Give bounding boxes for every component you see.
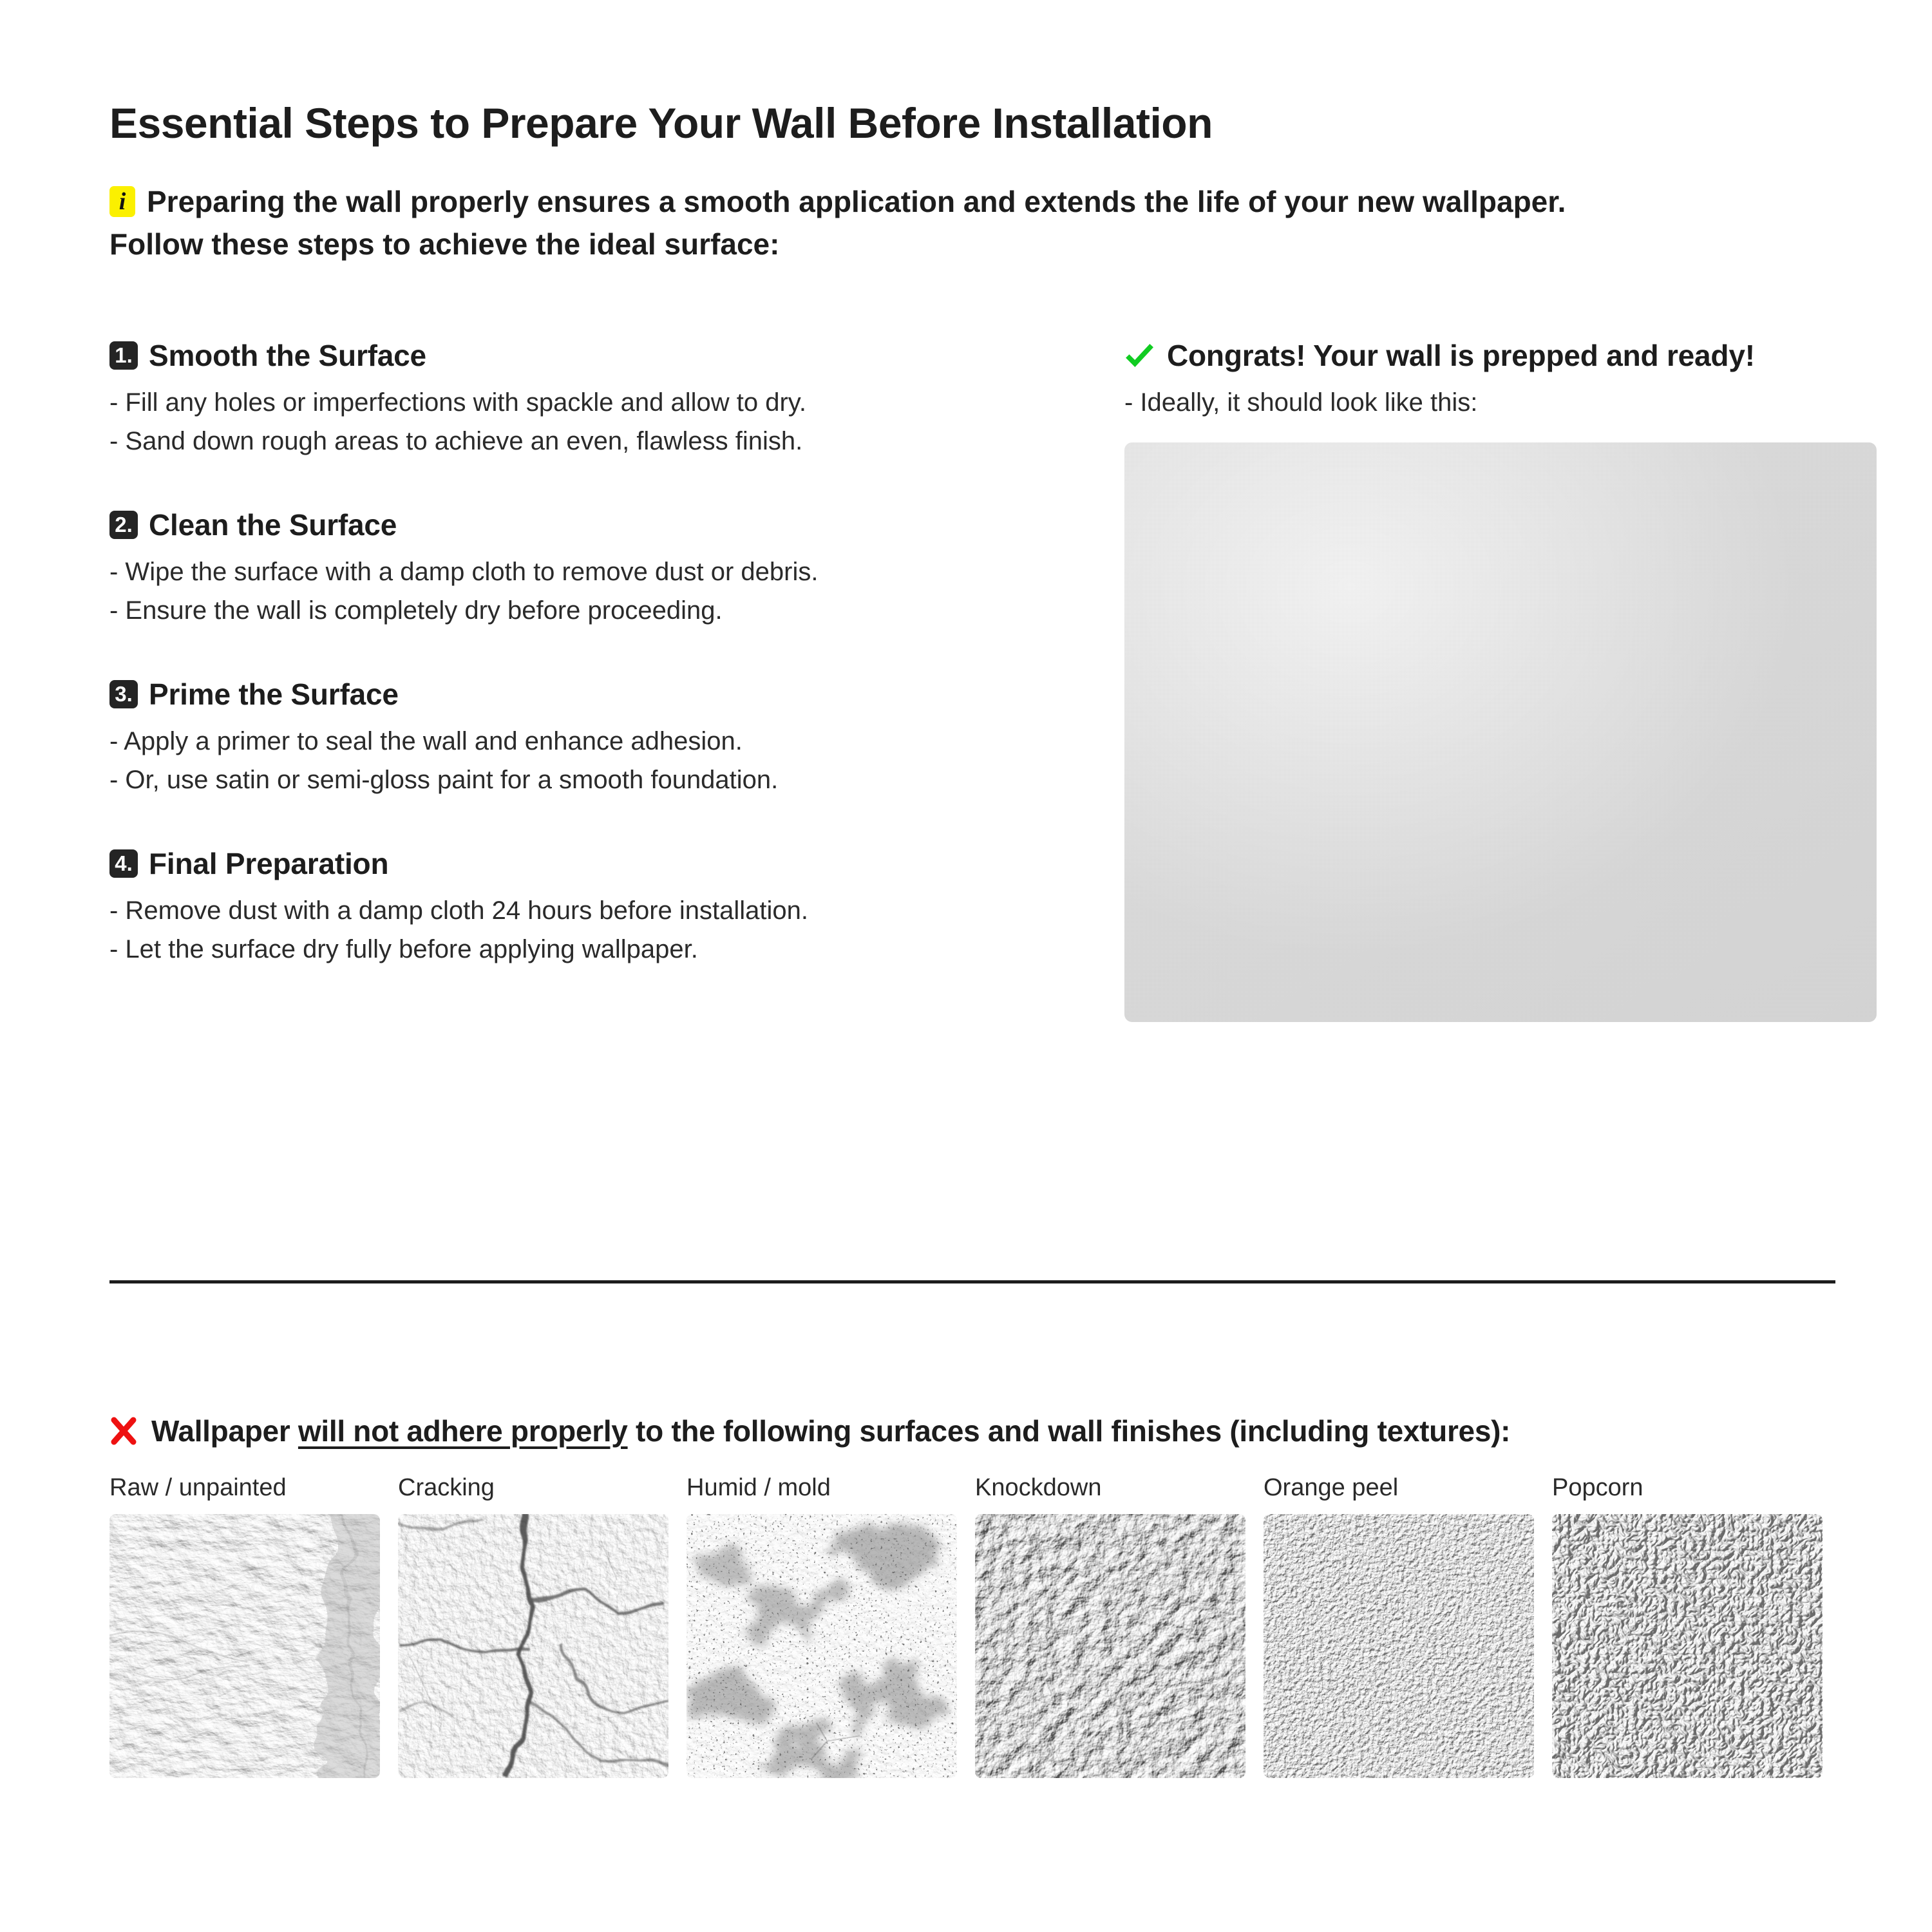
step-bullet: - Apply a primer to seal the wall and en… xyxy=(109,722,1069,761)
section-divider xyxy=(109,1280,1835,1283)
body-columns: 1. Smooth the Surface - Fill any holes o… xyxy=(109,338,1823,1022)
raw-unpainted-texture xyxy=(109,1514,380,1778)
popcorn-texture xyxy=(1552,1514,1823,1778)
step-bullet: - Sand down rough areas to achieve an ev… xyxy=(109,422,1069,460)
step-number-badge: 3. xyxy=(109,680,138,708)
warning-text-after: to the following surfaces and wall finis… xyxy=(628,1414,1511,1448)
surface-label: Cracking xyxy=(398,1474,668,1502)
surface-label: Humid / mold xyxy=(687,1474,957,1502)
step-number-badge: 4. xyxy=(109,849,138,878)
step-item: 1. Smooth the Surface - Fill any holes o… xyxy=(109,338,1069,460)
step-header: 2. Clean the Surface xyxy=(109,507,1069,542)
step-title: Clean the Surface xyxy=(149,507,397,542)
step-bullet: - Remove dust with a damp cloth 24 hours… xyxy=(109,891,1069,930)
warning-header: Wallpaper will not adhere properly to th… xyxy=(109,1414,1835,1448)
surface-label: Popcorn xyxy=(1552,1474,1823,1502)
cracking-texture xyxy=(398,1514,668,1778)
surface-tile: Orange peel xyxy=(1264,1474,1534,1778)
unsuitable-surfaces-section: Wallpaper will not adhere properly to th… xyxy=(109,1414,1835,1778)
steps-column: 1. Smooth the Surface - Fill any holes o… xyxy=(109,338,1069,1022)
intro-line-2: Follow these steps to achieve the ideal … xyxy=(109,227,779,261)
step-number-badge: 1. xyxy=(109,341,138,370)
surface-tile: Raw / unpainted xyxy=(109,1474,380,1778)
green-check-icon xyxy=(1124,341,1154,370)
intro-paragraph: iPreparing the wall properly ensures a s… xyxy=(109,180,1823,266)
surface-tile: Knockdown xyxy=(975,1474,1245,1778)
red-x-icon xyxy=(109,1417,138,1445)
surface-label: Orange peel xyxy=(1264,1474,1534,1502)
step-header: 3. Prime the Surface xyxy=(109,677,1069,712)
step-number-badge: 2. xyxy=(109,511,138,539)
surface-label: Raw / unpainted xyxy=(109,1474,380,1502)
surface-tiles: Raw / unpainted xyxy=(109,1474,1835,1778)
step-title: Smooth the Surface xyxy=(149,338,426,373)
step-bullet: - Ensure the wall is completely dry befo… xyxy=(109,591,1069,630)
info-icon: i xyxy=(109,186,135,217)
step-bullet: - Or, use satin or semi-gloss paint for … xyxy=(109,761,1069,799)
congrats-header: Congrats! Your wall is prepped and ready… xyxy=(1124,338,1878,373)
page-title: Essential Steps to Prepare Your Wall Bef… xyxy=(109,0,1823,147)
step-item: 2. Clean the Surface - Wipe the surface … xyxy=(109,507,1069,630)
step-bullet: - Let the surface dry fully before apply… xyxy=(109,930,1069,969)
step-title: Prime the Surface xyxy=(149,677,399,712)
congrats-title: Congrats! Your wall is prepped and ready… xyxy=(1167,338,1755,373)
congrats-column: Congrats! Your wall is prepped and ready… xyxy=(1124,338,1878,1022)
warning-text-emphasis: will not adhere properly xyxy=(298,1414,628,1448)
surface-tile: Cracking xyxy=(398,1474,668,1778)
warning-text-before: Wallpaper xyxy=(151,1414,298,1448)
wall-preparation-document: Essential Steps to Prepare Your Wall Bef… xyxy=(0,0,1932,1932)
step-bullet: - Fill any holes or imperfections with s… xyxy=(109,383,1069,422)
humid-mold-texture xyxy=(687,1514,957,1778)
surface-label: Knockdown xyxy=(975,1474,1245,1502)
step-header: 1. Smooth the Surface xyxy=(109,338,1069,373)
step-item: 4. Final Preparation - Remove dust with … xyxy=(109,846,1069,969)
step-header: 4. Final Preparation xyxy=(109,846,1069,881)
warning-text: Wallpaper will not adhere properly to th… xyxy=(151,1414,1510,1448)
congrats-subtitle: - Ideally, it should look like this: xyxy=(1124,383,1878,422)
ideal-wall-image xyxy=(1124,442,1877,1022)
intro-line-1: Preparing the wall properly ensures a sm… xyxy=(147,185,1566,218)
orange-peel-texture xyxy=(1264,1514,1534,1778)
knockdown-texture xyxy=(975,1514,1245,1778)
surface-tile: Humid / mold xyxy=(687,1474,957,1778)
step-item: 3. Prime the Surface - Apply a primer to… xyxy=(109,677,1069,799)
surface-tile: Popcorn xyxy=(1552,1474,1823,1778)
step-title: Final Preparation xyxy=(149,846,388,881)
step-bullet: - Wipe the surface with a damp cloth to … xyxy=(109,553,1069,591)
